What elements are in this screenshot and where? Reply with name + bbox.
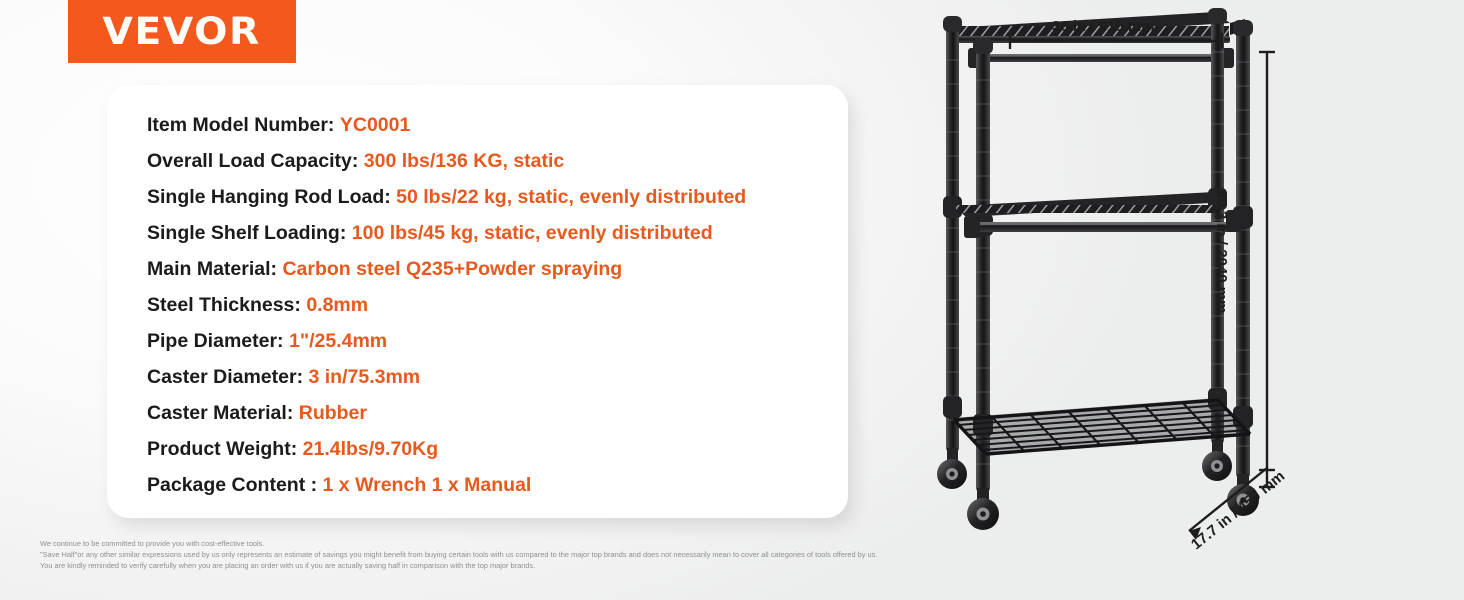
spec-label: Main Material: [147, 258, 277, 280]
spec-row: Product Weight: 21.4lbs/9.70Kg [147, 431, 830, 467]
spec-label: Package Content : [147, 474, 317, 496]
spec-row: Single Hanging Rod Load: 50 lbs/22 kg, s… [147, 179, 830, 215]
vevor-logo: VEVOR [68, 0, 296, 63]
spec-value: 0.8mm [306, 294, 368, 316]
spec-label: Overall Load Capacity: [147, 150, 358, 172]
spec-row: Pipe Diameter: 1"/25.4mm [147, 323, 830, 359]
spec-label: Caster Material: [147, 402, 293, 424]
brand-name: VEVOR [103, 10, 261, 53]
spec-label: Steel Thickness: [147, 294, 301, 316]
spec-label: Single Shelf Loading: [147, 222, 346, 244]
height-dimension-label: 80.3 in / 2040 mm [1213, 190, 1230, 313]
spec-row: Package Content : 1 x Wrench 1 x Manual [147, 467, 830, 503]
spec-value: 1 x Wrench 1 x Manual [323, 474, 532, 496]
spec-row: Steel Thickness: 0.8mm [147, 287, 830, 323]
garment-rack-drawing [900, 0, 1464, 600]
spec-value: YC0001 [340, 114, 410, 136]
spec-value: 100 lbs/45 kg, static, evenly distribute… [352, 222, 713, 244]
product-illustration: 36 in / 915 mm 80.3 in / 2040 mm 17.7 in… [900, 0, 1464, 600]
spec-value: 3 in/75.3mm [309, 366, 421, 388]
spec-value: Carbon steel Q235+Powder spraying [282, 258, 622, 280]
spec-label: Caster Diameter: [147, 366, 303, 388]
spec-row: Single Shelf Loading: 100 lbs/45 kg, sta… [147, 215, 830, 251]
spec-label: Pipe Diameter: [147, 330, 284, 352]
spec-row: Item Model Number: YC0001 [147, 107, 830, 143]
spec-value: 21.4lbs/9.70Kg [303, 438, 439, 460]
specification-card: Item Model Number: YC0001 Overall Load C… [107, 85, 848, 518]
spec-label: Item Model Number: [147, 114, 334, 136]
spec-value: Rubber [299, 402, 367, 424]
spec-row: Main Material: Carbon steel Q235+Powder … [147, 251, 830, 287]
spec-row: Caster Diameter: 3 in/75.3mm [147, 359, 830, 395]
spec-value: 300 lbs/136 KG, static [364, 150, 565, 172]
width-dimension-label: 36 in / 915 mm [1052, 18, 1155, 35]
spec-value: 50 lbs/22 kg, static, evenly distributed [396, 186, 746, 208]
spec-row: Caster Material: Rubber [147, 395, 830, 431]
spec-label: Product Weight: [147, 438, 297, 460]
spec-value: 1"/25.4mm [289, 330, 387, 352]
product-spec-banner: VEVOR Item Model Number: YC0001 Overall … [0, 0, 1464, 600]
spec-row: Overall Load Capacity: 300 lbs/136 KG, s… [147, 143, 830, 179]
specification-list: Item Model Number: YC0001 Overall Load C… [147, 107, 830, 503]
spec-label: Single Hanging Rod Load: [147, 186, 391, 208]
